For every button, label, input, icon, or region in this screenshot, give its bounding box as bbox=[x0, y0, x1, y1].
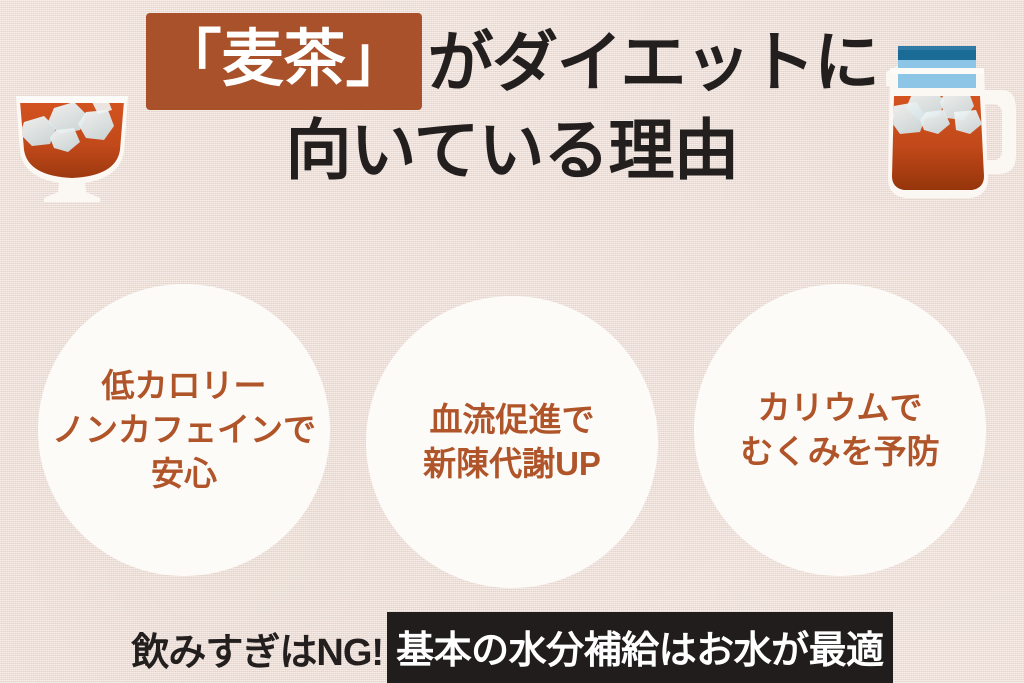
footer-plain-text: 飲みすぎはNG! bbox=[131, 621, 387, 676]
benefit-3-line-1: カリウムで bbox=[758, 386, 923, 430]
benefit-1-line-1: 低カロリー bbox=[102, 364, 267, 408]
footer-note: 飲みすぎはNG! 基本の水分補給はお水が最適 bbox=[0, 612, 1024, 683]
benefit-circle-low-calorie: 低カロリー ノンカフェインで 安心 bbox=[38, 284, 330, 576]
footer-boxed-text: 基本の水分補給はお水が最適 bbox=[387, 612, 893, 683]
benefit-3-line-2: むくみを予防 bbox=[740, 430, 939, 474]
benefit-2-line-1: 血流促進で bbox=[430, 398, 595, 442]
benefit-circle-metabolism: 血流促進で 新陳代謝UP bbox=[366, 296, 658, 588]
poster-root: 「麦茶」 がダイエットに 向いている理由 bbox=[0, 0, 1024, 683]
title-line-2: 向いている理由 bbox=[0, 117, 1024, 184]
benefit-2-line-2: 新陳代謝UP bbox=[423, 442, 601, 486]
benefit-1-line-3: 安心 bbox=[151, 452, 217, 496]
title-line-1-rest: がダイエットに bbox=[428, 29, 879, 96]
benefit-1-line-2: ノンカフェインで bbox=[52, 408, 316, 452]
title-line-1: 「麦茶」 がダイエットに bbox=[0, 14, 1024, 111]
benefit-circle-potassium: カリウムで むくみを予防 bbox=[694, 284, 986, 576]
title-highlight-mugicha: 「麦茶」 bbox=[146, 13, 422, 110]
page-title: 「麦茶」 がダイエットに 向いている理由 bbox=[0, 14, 1024, 184]
